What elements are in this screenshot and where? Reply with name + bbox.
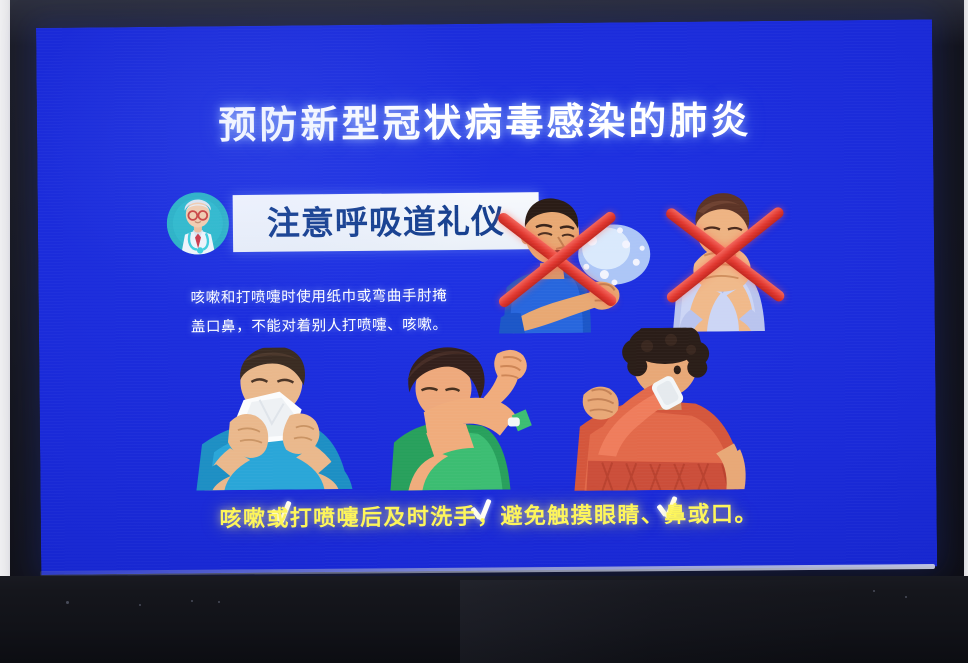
desk-speck — [873, 590, 875, 592]
desk-speck — [66, 601, 69, 604]
figure-using-tissue — [185, 347, 378, 491]
poster-slide: 预防新型冠状病毒感染的肺炎 — [36, 19, 937, 575]
poster-caption: 咳嗽或打喷嚏后及时洗手，避免触摸眼睛、鼻或口。 — [41, 494, 937, 535]
photo-scene: 预防新型冠状病毒感染的肺炎 — [0, 0, 968, 663]
desk-speck — [905, 596, 907, 598]
figure-covering-with-sleeve — [567, 327, 765, 491]
body-line-1: 咳嗽和打喷嚏时使用纸巾或弯曲手肘掩 — [190, 281, 530, 313]
desk-speck — [218, 601, 220, 603]
desk-surface — [0, 576, 968, 663]
poster-title: 预防新型冠状病毒感染的肺炎 — [37, 87, 933, 151]
figure-coughing-into-hands — [657, 179, 818, 333]
figure-coughing-into-elbow — [379, 343, 560, 491]
desk-speck — [191, 600, 193, 602]
doctor-avatar-icon — [167, 192, 230, 255]
figure-man-sneezing-openly — [486, 182, 667, 334]
desk-speck — [139, 604, 141, 606]
body-text: 咳嗽和打喷嚏时使用纸巾或弯曲手肘掩 盖口鼻，不能对着别人打喷嚏、咳嗽。 — [190, 281, 531, 342]
body-line-2: 盖口鼻，不能对着别人打喷嚏、咳嗽。 — [191, 310, 531, 342]
display-screen: 预防新型冠状病毒感染的肺炎 — [36, 19, 937, 575]
